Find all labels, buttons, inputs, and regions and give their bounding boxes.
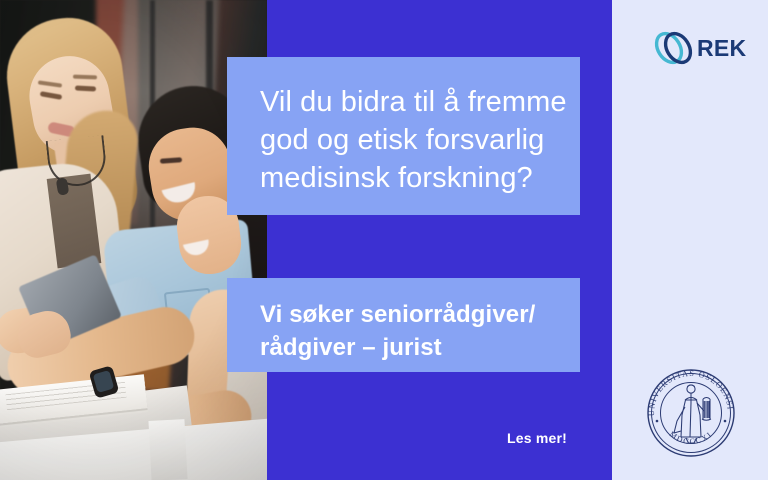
- interlocking-rings-icon: [652, 27, 696, 69]
- headline-line-2: god og etisk forsvarlig: [260, 121, 558, 159]
- rek-wordmark: REK: [697, 35, 746, 62]
- rek-logo[interactable]: REK: [652, 26, 744, 70]
- uio-seal-icon: UNIVERSITAS OSLOENSIS MDCCCXI: [641, 363, 741, 463]
- headline-line-3: medisinsk forskning?: [260, 159, 558, 197]
- read-more-link[interactable]: Les mer!: [507, 430, 567, 446]
- job-role-line-1: Vi søker seniorrådgiver/: [260, 298, 562, 331]
- recruitment-banner: Vil du bidra til å fremme god og etisk f…: [0, 0, 768, 480]
- job-role-card: Vi søker seniorrådgiver/ rådgiver – juri…: [227, 278, 580, 372]
- headline-line-1: Vil du bidra til å fremme: [260, 83, 558, 121]
- headline-card: Vil du bidra til å fremme god og etisk f…: [227, 57, 580, 215]
- job-role-line-2: rådgiver – jurist: [260, 331, 562, 364]
